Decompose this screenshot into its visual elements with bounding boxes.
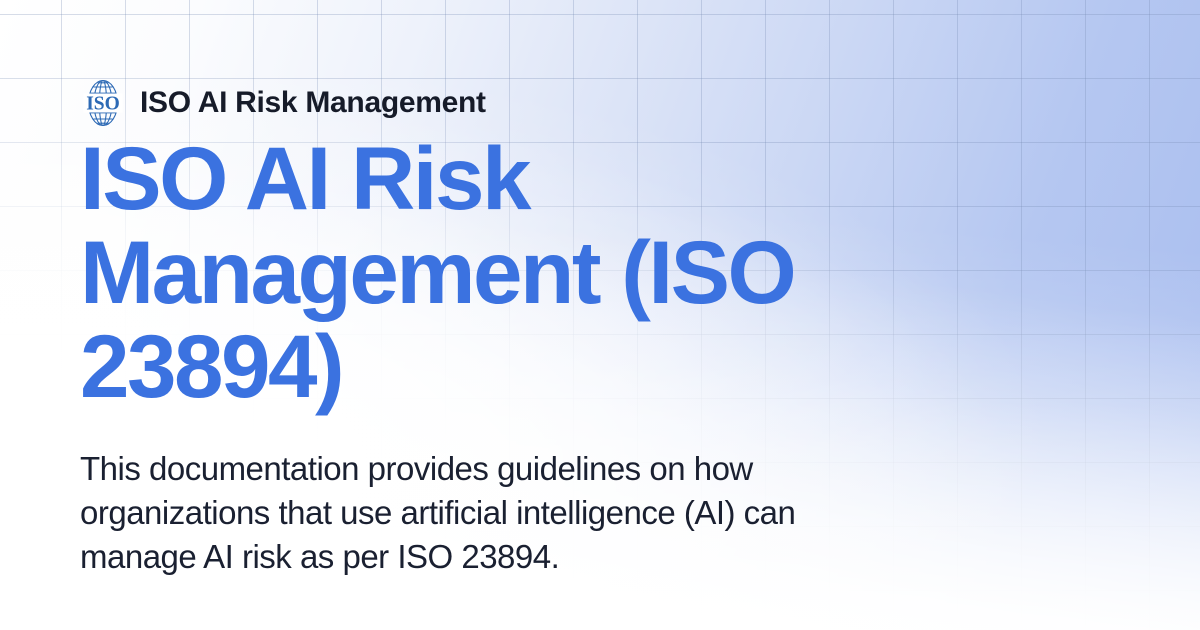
brand-row: ISO ISO AI Risk Management bbox=[80, 78, 486, 128]
iso-globe-logo-icon: ISO bbox=[80, 78, 126, 128]
og-card: ISO ISO AI Risk Management ISO AI Risk M… bbox=[0, 0, 1200, 630]
page-description: This documentation provides guidelines o… bbox=[80, 447, 840, 579]
page-title: ISO AI Risk Management (ISO 23894) bbox=[80, 131, 940, 413]
content-area: ISO ISO AI Risk Management ISO AI Risk M… bbox=[80, 0, 1120, 630]
iso-logo-wordmark: ISO bbox=[86, 93, 120, 114]
brand-label: ISO AI Risk Management bbox=[140, 88, 486, 118]
